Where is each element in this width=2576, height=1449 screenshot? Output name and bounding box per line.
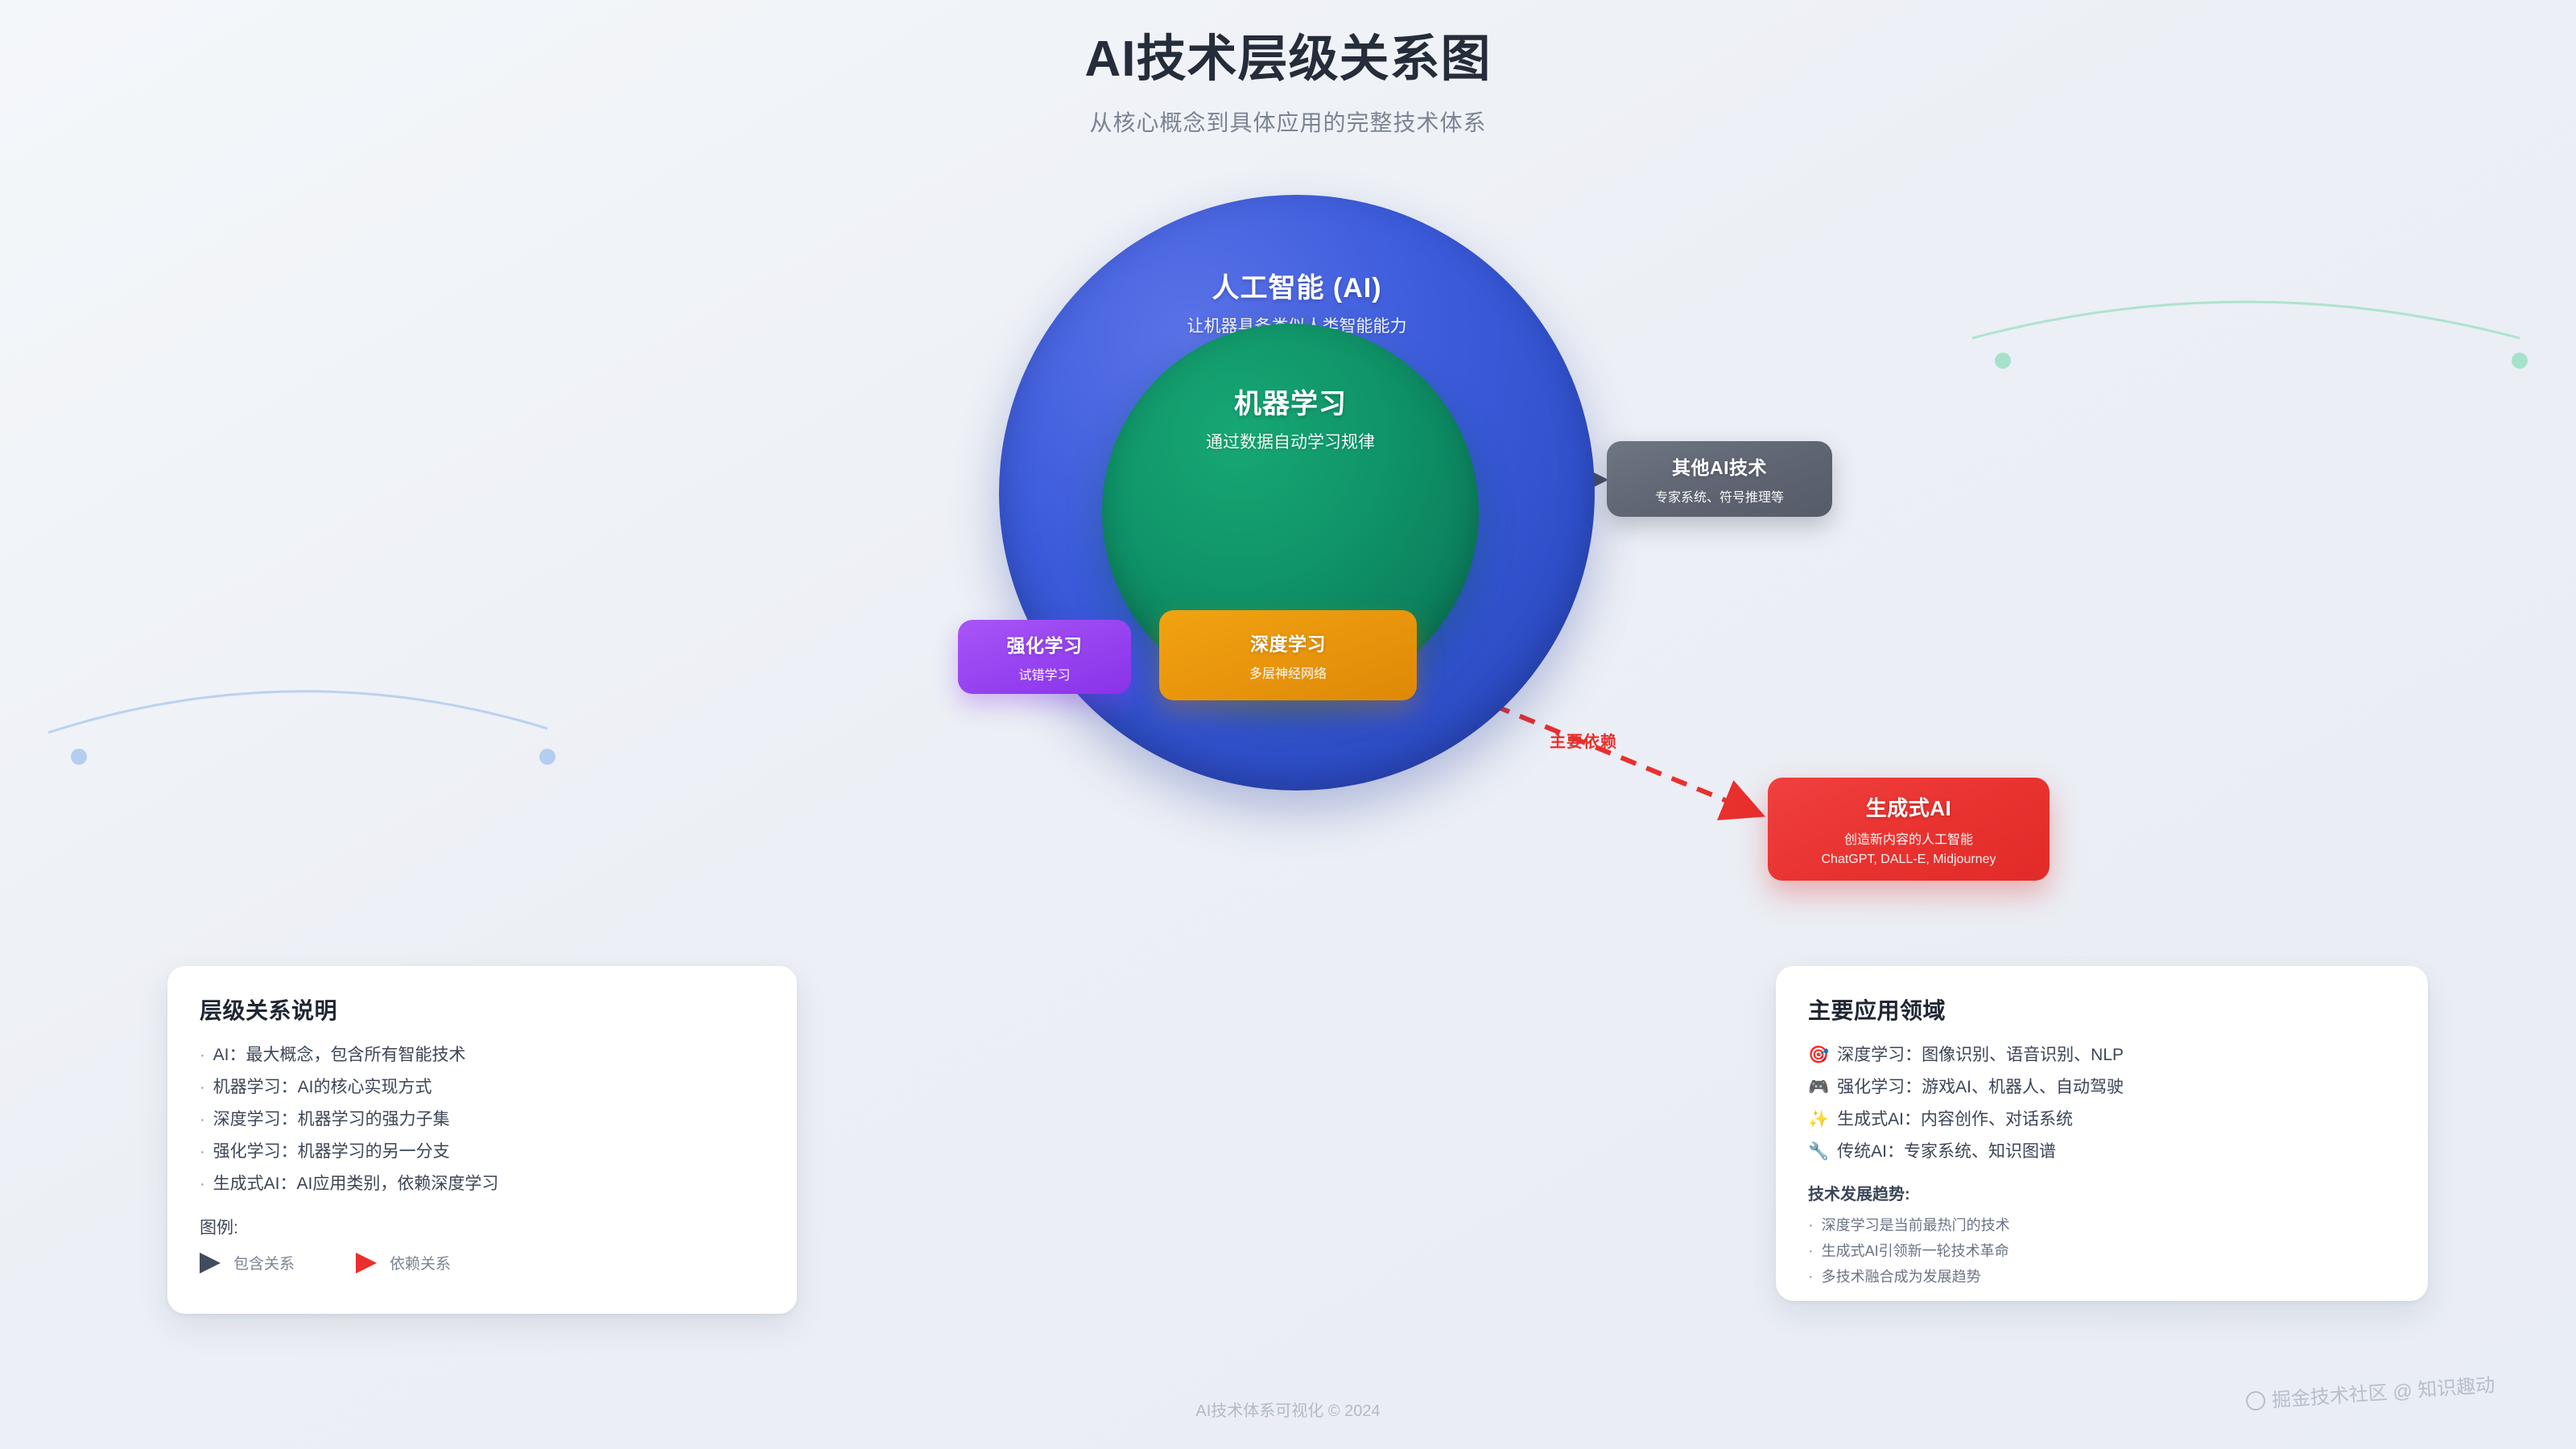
generative-ai-examples: ChatGPT, DALL-E, Midjourney xyxy=(1822,852,1996,867)
bullet-icon: · xyxy=(200,1080,205,1096)
generative-ai-title: 生成式AI xyxy=(1866,792,1952,822)
list-item: ✨生成式AI：内容创作、对话系统 xyxy=(1808,1111,2396,1128)
other-ai-subtitle: 专家系统、符号推理等 xyxy=(1655,486,1784,506)
ml-circle-label: 机器学习 通过数据自动学习规律 xyxy=(1102,382,1479,453)
triangle-dark-icon xyxy=(200,1253,221,1274)
legend-item-dependency: 依赖关系 xyxy=(356,1252,451,1274)
bullet-icon: · xyxy=(200,1112,205,1128)
right-card-title: 主要应用领域 xyxy=(1808,993,2396,1026)
ai-title: 人工智能 (AI) xyxy=(999,266,1595,305)
ml-subtitle: 通过数据自动学习规律 xyxy=(1102,429,1479,453)
list-item: ·机器学习：AI的核心实现方式 xyxy=(200,1079,765,1096)
list-item: ·AI：最大概念，包含所有智能技术 xyxy=(200,1046,765,1063)
node-deep-learning[interactable]: 深度学习 多层神经网络 xyxy=(1159,610,1417,700)
legend-label: 包含关系 xyxy=(233,1252,295,1274)
hierarchy-item-text: 深度学习：机器学习的强力子集 xyxy=(213,1111,450,1128)
diagram-stage: AI技术层级关系图 从核心概念到具体应用的完整技术体系 人工智能 (AI) 让机… xyxy=(0,0,2576,1449)
node-generative-ai[interactable]: 生成式AI 创造新内容的人工智能 ChatGPT, DALL-E, Midjou… xyxy=(1768,778,2050,881)
legend-title: 图例: xyxy=(200,1215,765,1239)
hierarchy-item-text: 强化学习：机器学习的另一分支 xyxy=(213,1143,450,1160)
footer-caption: AI技术体系可视化 © 2024 xyxy=(0,1397,2576,1421)
trend-item-text: 多技术融合成为发展趋势 xyxy=(1822,1269,1981,1284)
list-item: 🎯深度学习：图像识别、语音识别、NLP xyxy=(1808,1046,2396,1063)
application-item-text: 强化学习：游戏AI、机器人、自动驾驶 xyxy=(1837,1079,2124,1096)
hierarchy-item-text: AI：最大概念，包含所有智能技术 xyxy=(213,1046,466,1063)
reinforcement-learning-title: 强化学习 xyxy=(1007,630,1083,658)
legend-item-containment: 包含关系 xyxy=(200,1252,295,1274)
application-domains-card: 主要应用领域 🎯深度学习：图像识别、语音识别、NLP 🎮强化学习：游戏AI、机器… xyxy=(1776,966,2428,1301)
wrench-icon: 🔧 xyxy=(1808,1143,1829,1160)
legend-label: 依赖关系 xyxy=(390,1252,451,1274)
list-item: ·多技术融合成为发展趋势 xyxy=(1808,1269,2396,1285)
bullet-icon: · xyxy=(200,1144,205,1160)
deep-learning-subtitle: 多层神经网络 xyxy=(1249,663,1327,682)
list-item: ·生成式AI：AI应用类别，依赖深度学习 xyxy=(200,1175,765,1192)
bullet-icon: · xyxy=(1808,1243,1814,1259)
generative-ai-subtitle: 创造新内容的人工智能 xyxy=(1844,828,1973,848)
list-item: 🎮强化学习：游戏AI、机器人、自动驾驶 xyxy=(1808,1079,2396,1096)
application-list: 🎯深度学习：图像识别、语音识别、NLP 🎮强化学习：游戏AI、机器人、自动驾驶 … xyxy=(1808,1046,2396,1160)
node-other-ai[interactable]: 其他AI技术 专家系统、符号推理等 xyxy=(1607,441,1832,517)
triangle-red-icon xyxy=(356,1253,377,1274)
list-item: ·深度学习是当前最热门的技术 xyxy=(1808,1217,2396,1233)
reinforcement-learning-subtitle: 试错学习 xyxy=(1018,664,1070,683)
left-card-title: 层级关系说明 xyxy=(200,993,765,1026)
trend-item-text: 生成式AI引领新一轮技术革命 xyxy=(1822,1244,2009,1258)
other-ai-title: 其他AI技术 xyxy=(1672,452,1767,480)
list-item: ·强化学习：机器学习的另一分支 xyxy=(200,1143,765,1160)
hierarchy-item-text: 机器学习：AI的核心实现方式 xyxy=(213,1079,432,1096)
trend-list: ·深度学习是当前最热门的技术 ·生成式AI引领新一轮技术革命 ·多技术融合成为发… xyxy=(1808,1217,2396,1285)
bullet-icon: · xyxy=(1808,1217,1814,1233)
bullet-icon: · xyxy=(1808,1269,1814,1285)
deep-learning-title: 深度学习 xyxy=(1250,629,1326,656)
application-item-text: 传统AI：专家系统、知识图谱 xyxy=(1837,1143,2056,1160)
dependency-label: 主要依赖 xyxy=(1550,729,1617,752)
list-item: ·深度学习：机器学习的强力子集 xyxy=(200,1111,765,1128)
application-item-text: 生成式AI：内容创作、对话系统 xyxy=(1837,1111,2073,1128)
list-item: ·生成式AI引领新一轮技术革命 xyxy=(1808,1243,2396,1259)
gamepad-icon: 🎮 xyxy=(1808,1079,1829,1096)
bullet-icon: · xyxy=(200,1176,205,1192)
bullet-icon: · xyxy=(200,1047,205,1063)
target-icon: 🎯 xyxy=(1808,1046,1829,1063)
hierarchy-explanation-card: 层级关系说明 ·AI：最大概念，包含所有智能技术 ·机器学习：AI的核心实现方式… xyxy=(167,966,797,1314)
hierarchy-list: ·AI：最大概念，包含所有智能技术 ·机器学习：AI的核心实现方式 ·深度学习：… xyxy=(200,1046,765,1192)
hierarchy-item-text: 生成式AI：AI应用类别，依赖深度学习 xyxy=(213,1175,499,1192)
trend-item-text: 深度学习是当前最热门的技术 xyxy=(1822,1218,2010,1232)
node-reinforcement-learning[interactable]: 强化学习 试错学习 xyxy=(958,620,1131,694)
ml-title: 机器学习 xyxy=(1102,382,1479,421)
trend-title: 技术发展趋势: xyxy=(1808,1181,2396,1204)
watermark-logo-icon xyxy=(2245,1390,2266,1411)
legend: 包含关系 依赖关系 xyxy=(200,1252,765,1274)
application-item-text: 深度学习：图像识别、语音识别、NLP xyxy=(1837,1046,2124,1063)
sparkles-icon: ✨ xyxy=(1808,1111,1829,1128)
venn-diagram: 人工智能 (AI) 让机器具备类似人类智能能力 机器学习 通过数据自动学习规律 xyxy=(999,195,1595,791)
list-item: 🔧传统AI：专家系统、知识图谱 xyxy=(1808,1143,2396,1160)
